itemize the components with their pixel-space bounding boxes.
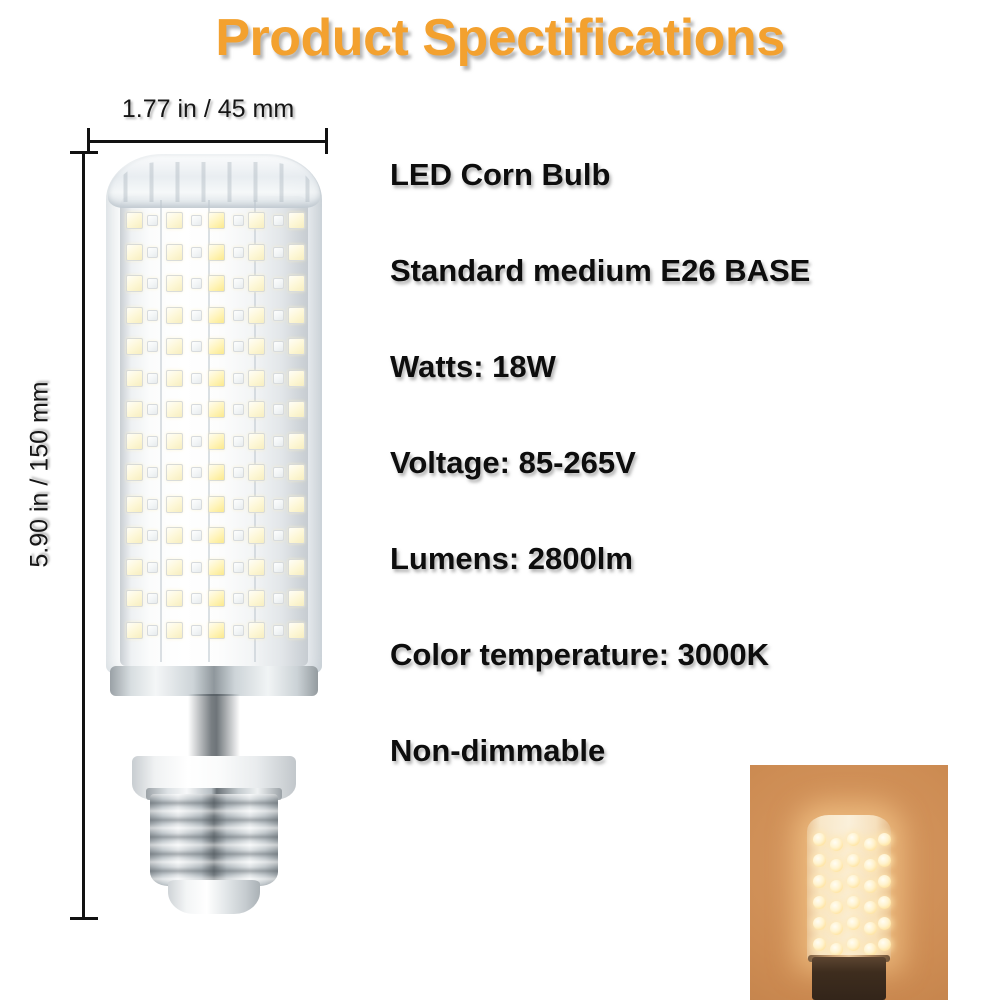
led-chip <box>126 527 143 544</box>
led-chip <box>288 244 305 261</box>
led-chip <box>166 275 183 292</box>
lit-bulb-base <box>812 957 886 1000</box>
led-chip <box>191 436 202 447</box>
led-chip <box>126 338 143 355</box>
led-chip <box>288 370 305 387</box>
led-chip <box>191 625 202 636</box>
led-chip <box>288 433 305 450</box>
led-chip <box>273 499 284 510</box>
led-chip <box>191 278 202 289</box>
led-chip <box>126 433 143 450</box>
led-chip <box>147 436 158 447</box>
led-chip <box>233 593 244 604</box>
lit-led-dot <box>830 838 843 851</box>
bulb-seam-line <box>160 200 162 662</box>
led-chip <box>126 559 143 576</box>
lit-led-dot <box>864 880 877 893</box>
led-chip <box>191 530 202 541</box>
led-chip <box>126 212 143 229</box>
led-chip <box>166 559 183 576</box>
led-chip <box>248 338 265 355</box>
led-chip <box>248 464 265 481</box>
led-chip <box>208 590 225 607</box>
lit-led-dot <box>878 917 891 930</box>
led-chip <box>166 622 183 639</box>
led-chip <box>126 307 143 324</box>
led-chip <box>166 307 183 324</box>
lit-led-dot <box>830 901 843 914</box>
led-chip <box>208 622 225 639</box>
led-chip <box>126 401 143 418</box>
spec-item-lumens: Lumens: 2800lm <box>390 536 980 632</box>
height-dimension-line <box>82 152 85 920</box>
led-chip <box>147 247 158 258</box>
lit-led-dot <box>813 833 826 846</box>
led-chip <box>233 436 244 447</box>
led-chip <box>147 467 158 478</box>
page-title: Product Spectifications <box>0 8 1000 68</box>
led-chip <box>273 593 284 604</box>
led-chip <box>288 275 305 292</box>
led-chip <box>248 590 265 607</box>
led-chip <box>233 562 244 573</box>
led-chip <box>273 278 284 289</box>
led-chip <box>288 338 305 355</box>
lit-led-dot <box>864 859 877 872</box>
led-chip <box>208 212 225 229</box>
led-chip <box>166 464 183 481</box>
led-chip <box>233 467 244 478</box>
lit-led-dot <box>847 854 860 867</box>
led-chip <box>208 464 225 481</box>
led-chip <box>147 625 158 636</box>
led-chip <box>191 467 202 478</box>
led-corn-bulb-photo <box>96 150 332 918</box>
led-chip <box>273 215 284 226</box>
led-chip <box>248 307 265 324</box>
led-chip <box>147 562 158 573</box>
led-chip <box>126 464 143 481</box>
specification-list: LED Corn Bulb Standard medium E26 BASE W… <box>390 152 980 824</box>
lit-led-dot <box>830 880 843 893</box>
lit-led-dot <box>847 833 860 846</box>
width-dimension-line <box>88 140 327 143</box>
lit-led-dot <box>813 854 826 867</box>
led-chip <box>273 310 284 321</box>
led-chip <box>273 404 284 415</box>
lit-led-dot <box>847 875 860 888</box>
led-chip <box>191 593 202 604</box>
led-chip <box>191 499 202 510</box>
led-chip <box>166 433 183 450</box>
led-chip <box>208 401 225 418</box>
led-chip <box>147 499 158 510</box>
led-chip <box>191 310 202 321</box>
led-chip <box>233 373 244 384</box>
bulb-top-ridges <box>112 162 316 202</box>
led-chip <box>147 373 158 384</box>
led-chip <box>208 307 225 324</box>
led-chip <box>288 401 305 418</box>
lit-bulb-photo <box>750 765 948 1000</box>
spec-item-watts: Watts: 18W <box>390 344 980 440</box>
led-chip <box>147 278 158 289</box>
led-chip <box>248 212 265 229</box>
lit-led-dot <box>847 896 860 909</box>
led-chip <box>126 275 143 292</box>
led-chip <box>273 373 284 384</box>
led-chip <box>191 341 202 352</box>
led-chip <box>208 527 225 544</box>
led-chip <box>288 464 305 481</box>
led-chip <box>147 530 158 541</box>
led-chip <box>248 275 265 292</box>
led-chip <box>233 215 244 226</box>
product-specification-page: Product Spectifications 1.77 in / 45 mm … <box>0 0 1000 1000</box>
led-chip <box>248 433 265 450</box>
led-chip <box>288 559 305 576</box>
led-chip <box>288 307 305 324</box>
lit-led-dot <box>813 875 826 888</box>
lit-led-dot <box>878 896 891 909</box>
spec-item-base: Standard medium E26 BASE <box>390 248 980 344</box>
spec-item-product-type: LED Corn Bulb <box>390 152 980 248</box>
led-chip <box>191 404 202 415</box>
led-chip <box>273 247 284 258</box>
spec-item-voltage: Voltage: 85-265V <box>390 440 980 536</box>
led-chip <box>208 370 225 387</box>
width-dimension-label: 1.77 in / 45 mm <box>88 95 328 124</box>
led-chip <box>208 559 225 576</box>
led-chip <box>147 593 158 604</box>
led-chip <box>166 370 183 387</box>
led-chip <box>233 530 244 541</box>
lit-led-dot <box>847 938 860 951</box>
led-chip <box>248 496 265 513</box>
led-chip <box>126 244 143 261</box>
led-chip <box>248 622 265 639</box>
bulb-heatsink-shading <box>188 694 240 758</box>
lit-led-dot <box>878 854 891 867</box>
led-chip <box>273 436 284 447</box>
led-chip <box>233 499 244 510</box>
led-chip <box>248 244 265 261</box>
led-chip <box>288 590 305 607</box>
led-chip <box>273 562 284 573</box>
led-chip <box>248 370 265 387</box>
lit-led-dot <box>847 917 860 930</box>
led-chip <box>208 244 225 261</box>
bulb-screw-tip <box>168 880 260 914</box>
led-chip <box>166 212 183 229</box>
lit-led-dot <box>878 875 891 888</box>
led-chip <box>273 467 284 478</box>
led-chip <box>191 373 202 384</box>
lit-led-dot <box>813 917 826 930</box>
led-chip <box>126 622 143 639</box>
led-chip <box>147 341 158 352</box>
lit-led-dot <box>878 833 891 846</box>
led-chip <box>233 247 244 258</box>
lit-led-dot <box>830 922 843 935</box>
led-chip <box>248 559 265 576</box>
led-chip <box>166 527 183 544</box>
led-chip <box>147 404 158 415</box>
led-chip <box>288 496 305 513</box>
led-chip <box>233 625 244 636</box>
led-chip <box>273 341 284 352</box>
led-chip <box>233 404 244 415</box>
lit-led-dot <box>864 901 877 914</box>
lit-led-dot <box>864 922 877 935</box>
led-chip <box>166 244 183 261</box>
led-chip <box>126 370 143 387</box>
lit-led-dot <box>813 938 826 951</box>
led-chip <box>191 247 202 258</box>
led-chip <box>233 310 244 321</box>
spec-item-color-temperature: Color temperature: 3000K <box>390 632 980 728</box>
led-chip <box>233 341 244 352</box>
led-chip <box>248 401 265 418</box>
led-chip <box>166 496 183 513</box>
lit-led-dot <box>830 859 843 872</box>
led-chip <box>273 530 284 541</box>
led-chip <box>208 275 225 292</box>
led-chip <box>147 310 158 321</box>
led-chip <box>166 401 183 418</box>
height-dimension-label: 5.90 in / 150 mm <box>26 345 55 605</box>
led-chip <box>191 215 202 226</box>
led-chip <box>191 562 202 573</box>
led-chip <box>208 338 225 355</box>
led-chip <box>166 338 183 355</box>
lit-led-dot <box>878 938 891 951</box>
led-chip <box>166 590 183 607</box>
led-chip <box>147 215 158 226</box>
height-dimension-cap-bottom <box>70 917 98 920</box>
led-chip <box>126 590 143 607</box>
led-chip <box>233 278 244 289</box>
led-chip <box>288 212 305 229</box>
height-dimension-cap-top <box>70 151 98 154</box>
bulb-e26-screw-base <box>150 794 278 886</box>
bulb-heatsink-ring <box>110 666 318 696</box>
led-chip <box>248 527 265 544</box>
lit-led-dot <box>864 838 877 851</box>
height-dimension-label-wrapper: 5.90 in / 150 mm <box>0 330 80 630</box>
led-chip <box>208 496 225 513</box>
led-chip <box>273 625 284 636</box>
lit-led-dot <box>813 896 826 909</box>
led-chip <box>288 527 305 544</box>
led-chip <box>288 622 305 639</box>
led-chip <box>208 433 225 450</box>
led-chip <box>126 496 143 513</box>
